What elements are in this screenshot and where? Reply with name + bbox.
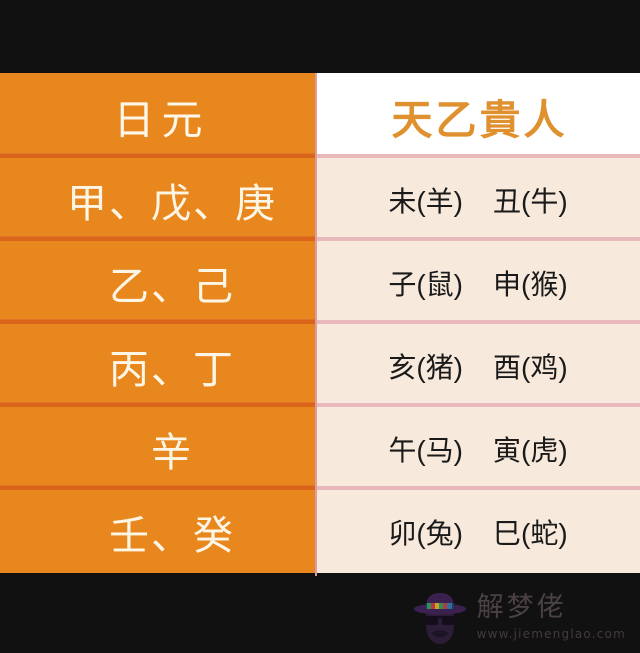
watermark: 解梦佬 www.jiemenglao.com [412, 586, 626, 648]
tianyi-guiren-table: 日元 天乙貴人 甲、戊、庚 未(羊) 丑(牛) [0, 73, 640, 576]
row-separator-left [0, 319, 316, 324]
row-branch-group: 子(鼠) 申(猴) [388, 263, 567, 303]
header-cell-riyuan: 日元 [0, 73, 316, 158]
row-branch-first: 子(鼠) [388, 263, 463, 303]
row-branch-first: 未(羊) [388, 180, 463, 220]
table-row: 乙、己 子(鼠) 申(猴) [0, 241, 640, 324]
row-branch-first: 亥(猪) [388, 346, 463, 386]
row-branch-first: 午(马) [388, 429, 463, 469]
row-separator-right [316, 320, 640, 324]
header-label-riyuan: 日元 [107, 86, 210, 146]
row-branch-second: 酉(鸡) [493, 346, 568, 386]
column-divider [315, 73, 317, 576]
row-stem-label: 辛 [149, 420, 193, 478]
row-stem-cell: 辛 [0, 407, 316, 490]
row-separator-right [316, 486, 640, 490]
row-separator-left [0, 485, 316, 490]
row-branch-group: 未(羊) 丑(牛) [388, 180, 567, 220]
row-branch-group: 卯(兔) 巳(蛇) [388, 512, 567, 552]
row-branch-first: 卯(兔) [388, 512, 463, 552]
row-stem-label: 丙、丁 [107, 337, 235, 395]
watermark-brand: 解梦佬 [477, 594, 626, 621]
row-stem-cell: 甲、戊、庚 [0, 158, 316, 241]
row-branch-second: 寅(虎) [493, 429, 568, 469]
row-separator-left [0, 153, 316, 158]
table-row: 辛 午(马) 寅(虎) [0, 407, 640, 490]
table-header-row: 日元 天乙貴人 [0, 73, 640, 158]
row-branch-second: 丑(牛) [493, 180, 568, 220]
watermark-text: 解梦佬 www.jiemenglao.com [477, 594, 626, 640]
row-branch-cell: 卯(兔) 巳(蛇) [316, 490, 640, 573]
row-separator-right [316, 403, 640, 407]
header-cell-tianyiguiren: 天乙貴人 [316, 73, 640, 158]
row-branch-cell: 午(马) 寅(虎) [316, 407, 640, 490]
top-black-bar [0, 0, 640, 73]
row-stem-cell: 壬、癸 [0, 490, 316, 573]
row-separator-right [316, 154, 640, 158]
row-branch-second: 巳(蛇) [493, 512, 568, 552]
detective-face-icon [412, 588, 468, 646]
row-stem-cell: 丙、丁 [0, 324, 316, 407]
row-branch-cell: 子(鼠) 申(猴) [316, 241, 640, 324]
row-branch-group: 亥(猪) 酉(鸡) [388, 346, 567, 386]
row-separator-right [316, 237, 640, 241]
row-stem-cell: 乙、己 [0, 241, 316, 324]
table-row: 壬、癸 卯(兔) 巳(蛇) [0, 490, 640, 573]
row-stem-label: 甲、戊、庚 [65, 171, 277, 229]
watermark-url: www.jiemenglao.com [477, 628, 626, 640]
row-separator-left [0, 402, 316, 407]
page-root: 日元 天乙貴人 甲、戊、庚 未(羊) 丑(牛) [0, 0, 640, 653]
row-branch-cell: 亥(猪) 酉(鸡) [316, 324, 640, 407]
row-separator-left [0, 236, 316, 241]
header-label-tianyiguiren: 天乙貴人 [389, 86, 568, 146]
row-branch-group: 午(马) 寅(虎) [388, 429, 567, 469]
row-stem-label: 壬、癸 [107, 503, 235, 561]
table-row: 丙、丁 亥(猪) 酉(鸡) [0, 324, 640, 407]
row-branch-second: 申(猴) [493, 263, 568, 303]
row-stem-label: 乙、己 [107, 254, 235, 312]
row-branch-cell: 未(羊) 丑(牛) [316, 158, 640, 241]
table-row: 甲、戊、庚 未(羊) 丑(牛) [0, 158, 640, 241]
